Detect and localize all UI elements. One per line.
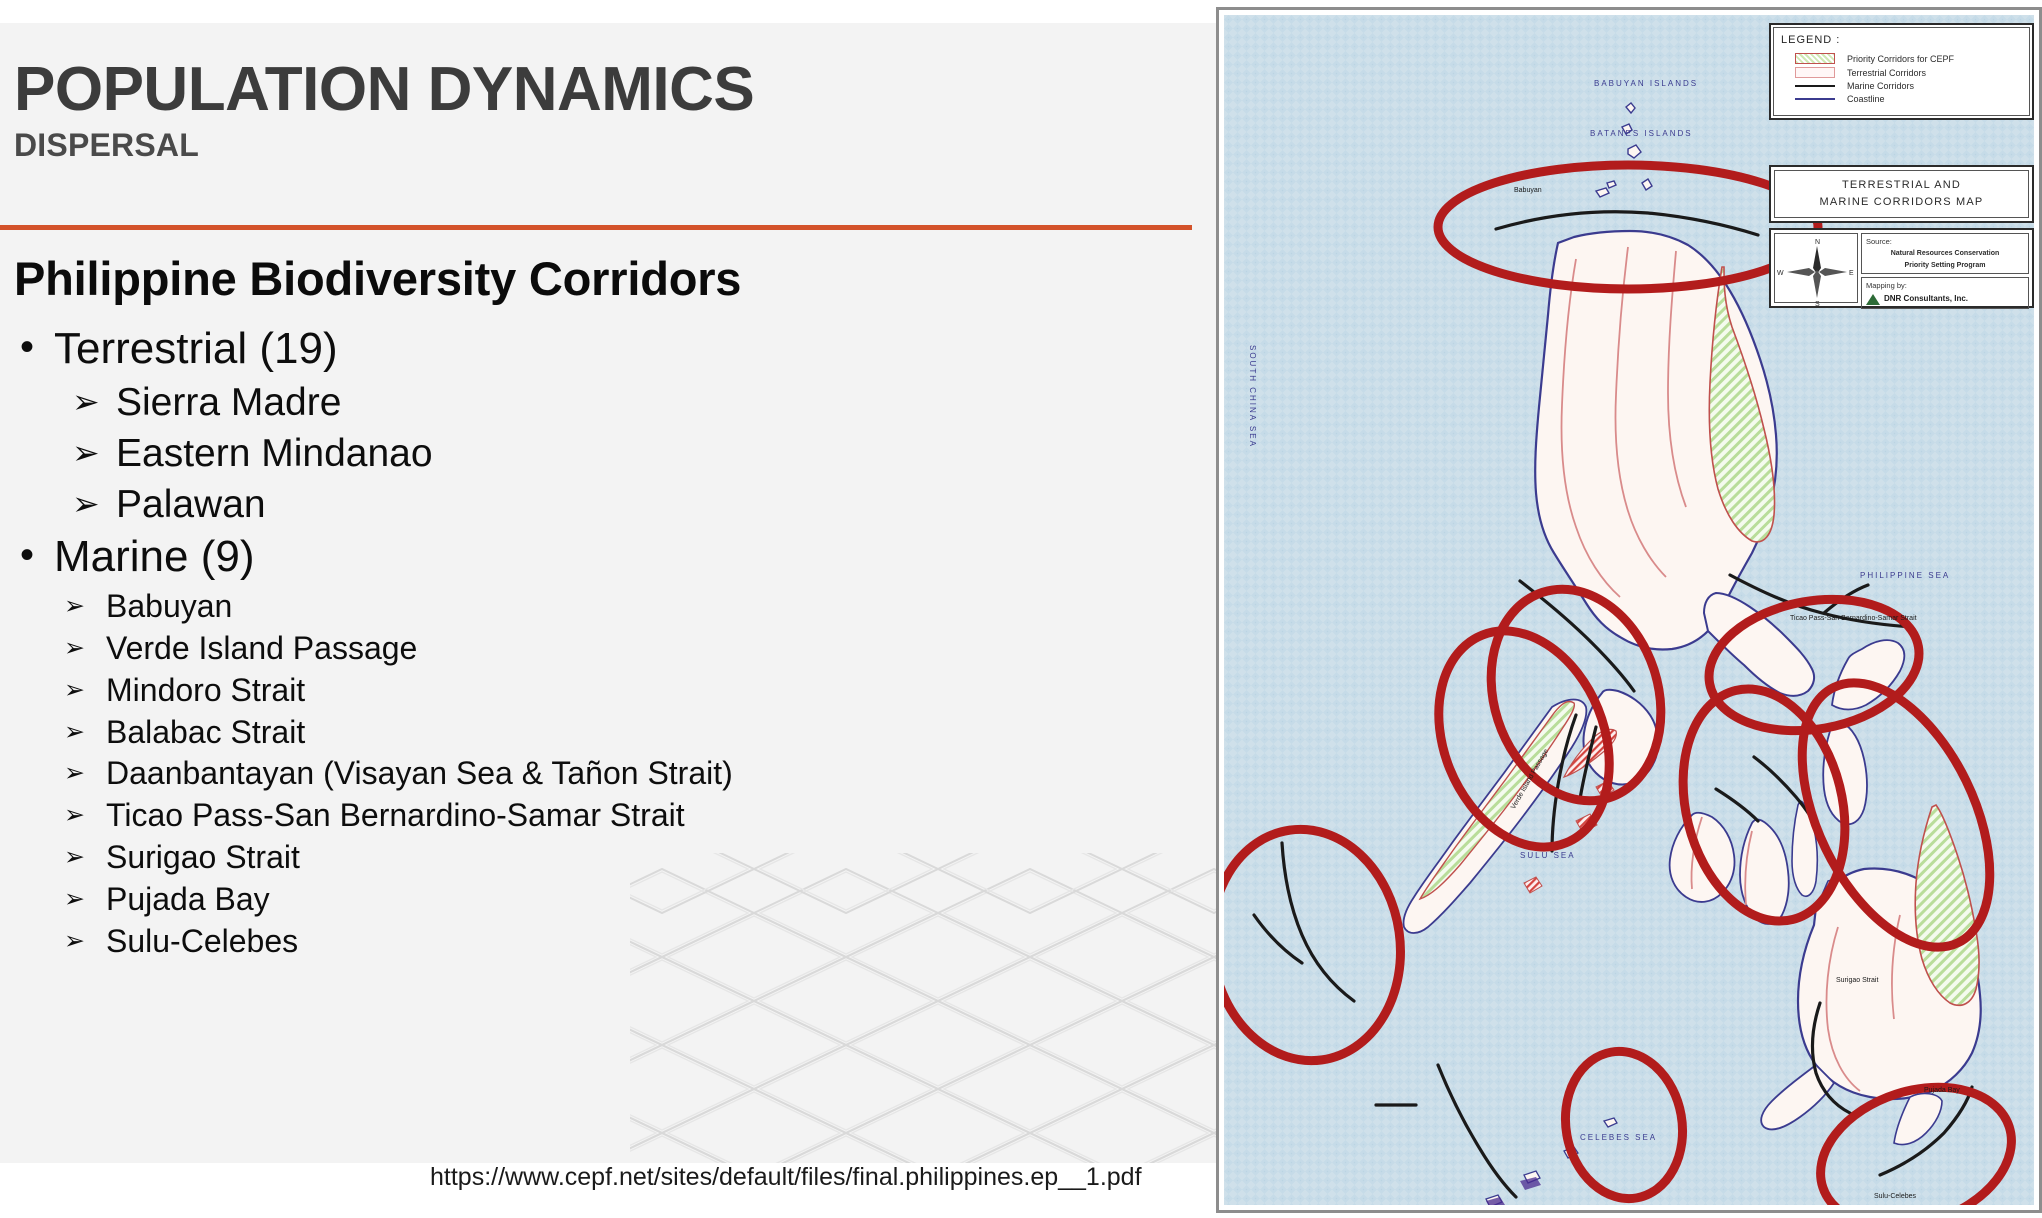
arrow-bullet-icon: ➢	[64, 921, 106, 962]
list-item: ➢ Palawan	[72, 480, 1199, 531]
page-subtitle: DISPERSAL	[14, 125, 1192, 165]
arrow-bullet-icon: ➢	[64, 879, 106, 920]
list-item-marine: • Marine (9)	[14, 530, 1199, 584]
map-meta-box: N S E W Source: Natural Resources Conser…	[1769, 228, 2034, 308]
outline-list: • Terrestrial (19) ➢ Sierra Madre ➢ East…	[14, 322, 1199, 963]
body-content: Philippine Biodiversity Corridors • Terr…	[14, 251, 1199, 963]
map-title-line2: MARINE CORRIDORS MAP	[1779, 194, 2024, 211]
list-item-terrestrial: • Terrestrial (19)	[14, 322, 1199, 376]
list-item: ➢ Mindoro Strait	[64, 670, 1199, 712]
svg-text:N: N	[1815, 239, 1820, 246]
sea-label: CELEBES SEA	[1580, 1133, 1657, 1142]
list-item-label: Marine (9)	[54, 530, 255, 584]
terrestrial-sublist: ➢ Sierra Madre ➢ Eastern Mindanao ➢ Pala…	[72, 378, 1199, 530]
arrow-bullet-icon: ➢	[72, 480, 116, 529]
list-item-label: Terrestrial (19)	[54, 322, 338, 376]
priority-corridor-swatch-icon	[1795, 53, 1835, 64]
map-source-label: Source:	[1866, 237, 2024, 247]
list-item: ➢ Pujada Bay	[64, 879, 1199, 921]
compass-rose-icon: N S E W	[1774, 233, 1858, 303]
list-item: ➢ Balabac Strait	[64, 712, 1199, 754]
svg-text:S: S	[1815, 301, 1820, 308]
list-item-label: Pujada Bay	[106, 879, 270, 921]
section-heading: Philippine Biodiversity Corridors	[14, 251, 1199, 306]
arrow-bullet-icon: ➢	[64, 795, 106, 836]
map-canvas: SOUTH CHINA SEA PHILIPPINE SEA SULU SEA …	[1224, 15, 2034, 1205]
corridor-label: Ticao Pass-San Bernardino-Samar Strait	[1790, 615, 1917, 622]
legend-label: Coastline	[1847, 94, 1885, 104]
slide-canvas: POPULATION DYNAMICS DISPERSAL Philippine…	[0, 0, 2042, 1218]
list-item-label: Mindoro Strait	[106, 670, 305, 712]
coastline-swatch-icon	[1795, 98, 1835, 100]
list-item-label: Daanbantayan (Visayan Sea & Tañon Strait…	[106, 753, 733, 795]
source-url-text: https://www.cepf.net/sites/default/files…	[430, 1163, 1142, 1192]
map-mapping-name: DNR Consultants, Inc.	[1884, 294, 1968, 305]
map-title-box: TERRESTRIAL AND MARINE CORRIDORS MAP	[1769, 165, 2034, 223]
arrow-bullet-icon: ➢	[72, 378, 116, 427]
page-title: POPULATION DYNAMICS	[14, 58, 1192, 121]
list-item-label: Babuyan	[106, 586, 232, 628]
arrow-bullet-icon: ➢	[64, 670, 106, 711]
legend-label: Terrestrial Corridors	[1847, 68, 1926, 78]
arrow-bullet-icon: ➢	[72, 429, 116, 478]
legend-label: Priority Corridors for CEPF	[1847, 54, 1954, 64]
map-title-line1: TERRESTRIAL AND	[1779, 177, 2024, 194]
marine-corridor-swatch-icon	[1795, 85, 1835, 87]
list-item-label: Palawan	[116, 480, 266, 531]
arrow-bullet-icon: ➢	[64, 837, 106, 878]
map-source-value-line2: Priority Setting Program	[1866, 261, 2024, 270]
list-item: ➢ Sierra Madre	[72, 378, 1199, 429]
svg-text:E: E	[1849, 270, 1854, 277]
map-legend: LEGEND : Priority Corridors for CEPF Ter…	[1769, 23, 2034, 120]
dnr-logo-icon	[1866, 294, 1880, 305]
legend-row: Marine Corridors	[1781, 81, 2022, 91]
list-item-label: Balabac Strait	[106, 712, 305, 754]
bullet-dot-icon: •	[14, 530, 54, 580]
sea-label: BATANES ISLANDS	[1590, 129, 1693, 138]
title-block: POPULATION DYNAMICS DISPERSAL	[0, 46, 1192, 165]
corridor-label: Babuyan	[1514, 187, 1542, 194]
arrow-bullet-icon: ➢	[64, 753, 106, 794]
legend-row: Priority Corridors for CEPF	[1781, 53, 2022, 64]
list-item: ➢ Verde Island Passage	[64, 628, 1199, 670]
list-item-label: Verde Island Passage	[106, 628, 417, 670]
legend-row: Terrestrial Corridors	[1781, 67, 2022, 78]
terrestrial-corridor-swatch-icon	[1795, 67, 1835, 78]
map-source-value-line1: Natural Resources Conservation	[1866, 249, 2024, 258]
sea-label: SOUTH CHINA SEA	[1248, 345, 1257, 448]
list-item: ➢ Daanbantayan (Visayan Sea & Tañon Stra…	[64, 753, 1199, 795]
arrow-bullet-icon: ➢	[64, 586, 106, 627]
map-mapping-label: Mapping by:	[1866, 281, 2024, 291]
list-item-label: Sierra Madre	[116, 378, 341, 429]
content-background: POPULATION DYNAMICS DISPERSAL Philippine…	[0, 23, 1216, 1163]
legend-title: LEGEND :	[1781, 34, 2022, 46]
map-source-cell: Source: Natural Resources Conservation P…	[1861, 233, 2029, 274]
list-item: ➢ Ticao Pass-San Bernardino-Samar Strait	[64, 795, 1199, 837]
arrow-bullet-icon: ➢	[64, 628, 106, 669]
map-mapping-cell: Mapping by: DNR Consultants, Inc.	[1861, 277, 2029, 309]
list-item: ➢ Eastern Mindanao	[72, 429, 1199, 480]
sea-label: PHILIPPINE SEA	[1860, 571, 1950, 580]
list-item-label: Surigao Strait	[106, 837, 300, 879]
legend-label: Marine Corridors	[1847, 81, 1914, 91]
legend-row: Coastline	[1781, 94, 2022, 104]
sea-label: SULU SEA	[1520, 851, 1576, 860]
svg-text:W: W	[1777, 270, 1784, 277]
corridors-map-image: SOUTH CHINA SEA PHILIPPINE SEA SULU SEA …	[1216, 7, 2042, 1213]
list-item: ➢ Sulu-Celebes	[64, 921, 1199, 963]
marine-sublist: ➢ Babuyan ➢ Verde Island Passage ➢ Mindo…	[64, 586, 1199, 963]
corridor-label: Pujada Bay	[1924, 1087, 1960, 1094]
corridor-label: Surigao Strait	[1836, 977, 1878, 984]
title-divider-rule	[0, 225, 1192, 230]
arrow-bullet-icon: ➢	[64, 712, 106, 753]
list-item: ➢ Surigao Strait	[64, 837, 1199, 879]
slide-content-panel: POPULATION DYNAMICS DISPERSAL Philippine…	[0, 0, 1216, 1218]
list-item-label: Ticao Pass-San Bernardino-Samar Strait	[106, 795, 685, 837]
bullet-dot-icon: •	[14, 322, 54, 372]
list-item-label: Sulu-Celebes	[106, 921, 298, 963]
corridor-label: Sulu-Celebes	[1874, 1193, 1916, 1200]
list-item: ➢ Babuyan	[64, 586, 1199, 628]
sea-label: BABUYAN ISLANDS	[1594, 79, 1698, 88]
list-item-label: Eastern Mindanao	[116, 429, 433, 480]
